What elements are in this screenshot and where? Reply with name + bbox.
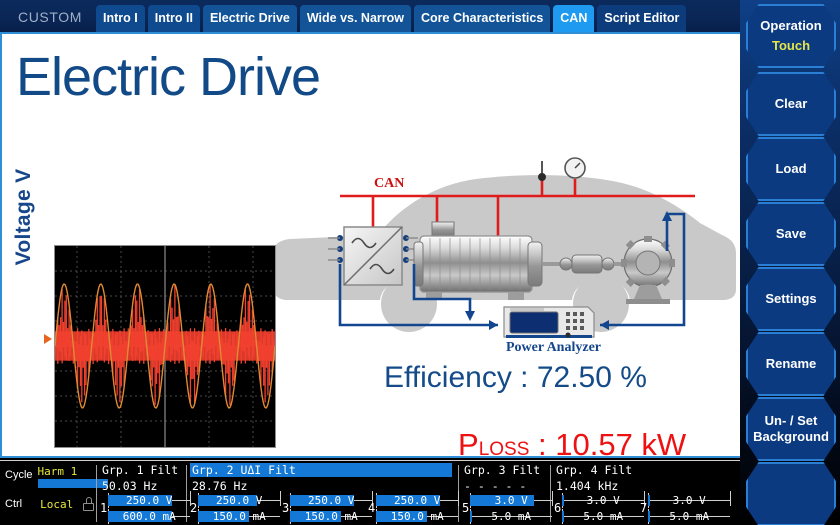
channel-current-1: 600.0 mA	[108, 511, 190, 522]
channel-bars-6: 3.0 V5.0 mA	[562, 493, 645, 523]
tab-core-characteristics[interactable]: Core Characteristics	[414, 5, 550, 32]
ctrl-label: Ctrl	[5, 498, 22, 510]
tab-script-editor[interactable]: Script Editor	[597, 5, 686, 32]
cycle-row: Cycle Harm 1	[5, 465, 108, 488]
lock-icon	[83, 497, 94, 511]
channel-current-6: 5.0 mA	[562, 511, 644, 522]
ploss-value: : 10.57 kW	[529, 427, 686, 458]
channel-bars-2: 250.0 V150.0 mA	[198, 493, 281, 523]
sidebar-button-load[interactable]: Load	[746, 137, 836, 201]
sidebar-button-settings[interactable]: Settings	[746, 267, 836, 331]
ctrl-row: Ctrl Local	[5, 497, 94, 511]
ctrl-value: Local	[40, 498, 73, 511]
tab-can[interactable]: CAN	[553, 5, 594, 32]
channel-number-1: 1	[100, 501, 107, 515]
sidebar-button-empty[interactable]	[746, 462, 836, 525]
sidebar-button-set-background[interactable]: Un- / Set Background	[746, 397, 836, 461]
channel-number-6: 6	[554, 501, 561, 515]
page-title: Electric Drive	[16, 50, 320, 104]
channel-number-4: 4	[368, 501, 375, 515]
channel-bars-3: 250.0 V150.0 mA	[290, 493, 373, 523]
group-2-header: Grp. 2 UΔI Filt	[190, 463, 452, 477]
channel-bars-7: 3.0 V5.0 mA	[648, 493, 731, 523]
sidebar-button-set-background-label: Un- / Set Background	[753, 413, 829, 446]
channel-bars-1: 250.0 V600.0 mA	[108, 493, 191, 523]
channel-meter-3[interactable]: 3250.0 V150.0 mA	[282, 492, 373, 524]
channel-voltage-3: 250.0 V	[290, 495, 372, 506]
group-1-header: Grp. 1 Filt	[100, 463, 180, 477]
power-analyzer-device	[504, 307, 594, 338]
channel-voltage-2: 250.0 V	[198, 495, 280, 506]
channel-voltage-1: 250.0 V	[108, 495, 190, 506]
custom-label: CUSTOM	[6, 9, 96, 32]
group-1-block[interactable]: Grp. 1 Filt 50.03 Hz	[100, 463, 180, 491]
channel-number-7: 7	[640, 501, 647, 515]
channel-current-7: 5.0 mA	[648, 511, 730, 522]
car-schematic-svg: CAN	[270, 139, 740, 354]
channel-number-3: 3	[282, 501, 289, 515]
channel-number-5: 5	[462, 501, 469, 515]
channel-meter-4[interactable]: 4250.0 V150.0 mA	[368, 492, 459, 524]
status-bar: Cycle Harm 1 Ctrl Local Grp. 1 Filt 50.0…	[0, 460, 740, 525]
cycle-value: Harm 1	[38, 465, 108, 478]
channel-meter-2[interactable]: 2250.0 V150.0 mA	[190, 492, 281, 524]
group-4-header: Grp. 4 Filt	[554, 463, 634, 477]
tab-wide-vs-narrow[interactable]: Wide vs. Narrow	[300, 5, 411, 32]
sidebar-button-rename[interactable]: Rename	[746, 332, 836, 396]
waveform-svg	[55, 246, 275, 447]
group-4-block[interactable]: Grp. 4 Filt 1.404 kHz	[554, 463, 634, 491]
tab-electric-drive[interactable]: Electric Drive	[203, 5, 297, 32]
channel-voltage-5: 3.0 V	[470, 495, 552, 506]
sidebar-button-operation-label: Operation	[760, 18, 821, 34]
sidebar-button-save[interactable]: Save	[746, 202, 836, 266]
efficiency-readout: Efficiency : 72.50 %	[384, 361, 647, 395]
right-sidebar: Operation Touch Clear Load Save Settings…	[740, 0, 840, 525]
group-3-header: Grp. 3 Filt	[462, 463, 542, 477]
vfd-output-waveform-chart	[54, 245, 276, 448]
sidebar-button-clear-label: Clear	[775, 96, 808, 112]
channel-voltage-7: 3.0 V	[648, 495, 730, 506]
power-loss-readout: PLOSS : 10.57 kW	[458, 429, 686, 458]
sidebar-button-operation[interactable]: Operation Touch	[746, 4, 836, 68]
group-4-frequency: 1.404 kHz	[554, 479, 634, 493]
electric-drive-diagram: CAN	[270, 139, 740, 354]
power-analyzer-label: Power Analyzer	[506, 340, 601, 354]
content-area: Electric Drive	[0, 32, 740, 458]
status-divider-1	[96, 465, 97, 522]
harmonic-indicator[interactable]: Harm 1	[38, 465, 108, 488]
channel-meter-1[interactable]: 1250.0 V600.0 mA	[100, 492, 191, 524]
group-2-frequency: 28.76 Hz	[190, 479, 452, 493]
channel-meter-5[interactable]: 53.0 V5.0 mA	[462, 492, 553, 524]
channel-bars-5: 3.0 V5.0 mA	[470, 493, 553, 523]
can-label: CAN	[374, 176, 404, 191]
group-2-block[interactable]: Grp. 2 UΔI Filt 28.76 Hz	[190, 463, 452, 491]
ploss-subscript: LOSS	[479, 439, 530, 458]
group-3-frequency: - - - - -	[462, 479, 542, 493]
sidebar-button-load-label: Load	[775, 161, 806, 177]
channel-bars-4: 250.0 V150.0 mA	[376, 493, 459, 523]
sidebar-button-operation-value: Touch	[772, 38, 810, 54]
channel-voltage-4: 250.0 V	[376, 495, 458, 506]
tab-bar: CUSTOM Intro I Intro II Electric Drive W…	[0, 0, 740, 32]
scope-zero-marker-icon	[44, 334, 52, 344]
sidebar-button-rename-label: Rename	[766, 356, 817, 372]
group-1-frequency: 50.03 Hz	[100, 479, 180, 493]
group-3-block[interactable]: Grp. 3 Filt - - - - -	[462, 463, 542, 491]
channel-current-5: 5.0 mA	[470, 511, 552, 522]
channel-current-4: 150.0 mA	[376, 511, 458, 522]
ploss-prefix: P	[458, 427, 479, 458]
channel-current-3: 150.0 mA	[290, 511, 372, 522]
channel-meter-7[interactable]: 73.0 V5.0 mA	[640, 492, 731, 524]
channel-number-2: 2	[190, 501, 197, 515]
scope-x-axis-label: VFD Output	[54, 454, 276, 458]
scope-y-axis-label: Voltage V	[12, 152, 36, 282]
sidebar-button-save-label: Save	[776, 226, 806, 242]
sidebar-button-settings-label: Settings	[765, 291, 816, 307]
cycle-label: Cycle	[5, 469, 33, 481]
application-window: CUSTOM Intro I Intro II Electric Drive W…	[0, 0, 840, 525]
sidebar-button-clear[interactable]: Clear	[746, 72, 836, 136]
status-cycle-ctrl-panel: Cycle Harm 1 Ctrl Local	[3, 464, 95, 522]
channel-current-2: 150.0 mA	[198, 511, 280, 522]
harmonic-bar	[38, 479, 108, 488]
channel-meter-6[interactable]: 63.0 V5.0 mA	[554, 492, 645, 524]
tab-intro-1[interactable]: Intro I	[96, 5, 145, 32]
tab-intro-2[interactable]: Intro II	[148, 5, 200, 32]
channel-voltage-6: 3.0 V	[562, 495, 644, 506]
